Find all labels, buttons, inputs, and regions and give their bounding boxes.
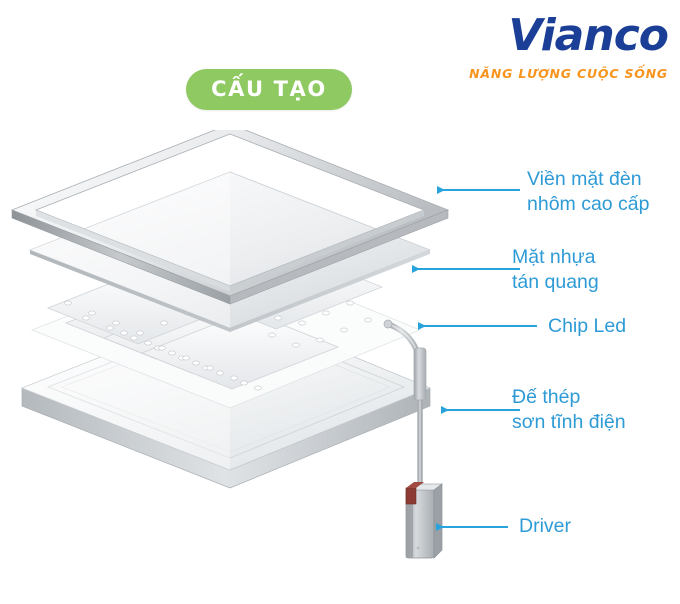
infographic-canvas: Vianco NĂNG LƯỢNG CUỘC SỐNG CẤU TẠO — [0, 0, 680, 604]
section-badge-label: CẤU TẠO — [186, 69, 352, 110]
callout-chipled-line1: Chip Led — [548, 315, 626, 337]
callout-driver: Driver — [519, 514, 571, 539]
callout-diffuser: Mặt nhựa tán quang — [512, 245, 599, 295]
callout-frame: Viền mặt đèn nhôm cao cấp — [527, 167, 650, 217]
callout-chipled: Chip Led — [548, 314, 626, 339]
wire-connector — [414, 348, 426, 400]
callout-driver-line1: Driver — [519, 515, 571, 537]
callout-base: Đế thép sơn tĩnh điện — [512, 385, 626, 435]
callout-diffuser-line1: Mặt nhựa — [512, 246, 596, 268]
callout-diffuser-line2: tán quang — [512, 270, 599, 295]
driver-terminal-block — [406, 488, 416, 504]
callout-frame-line2: nhôm cao cấp — [527, 192, 650, 217]
lightning-bolt-icon — [464, 16, 504, 60]
brand-logo: Vianco NĂNG LƯỢNG CUỘC SỐNG — [452, 12, 668, 84]
led-panel-exploded-diagram — [0, 130, 470, 604]
brand-tagline: NĂNG LƯỢNG CUỘC SỐNG — [452, 64, 668, 84]
led-driver-box — [406, 482, 442, 592]
callout-frame-line1: Viền mặt đèn — [527, 168, 642, 190]
callout-base-line2: sơn tĩnh điện — [512, 410, 626, 435]
callout-base-line1: Đế thép — [512, 386, 580, 408]
section-badge: CẤU TẠO — [186, 69, 352, 110]
